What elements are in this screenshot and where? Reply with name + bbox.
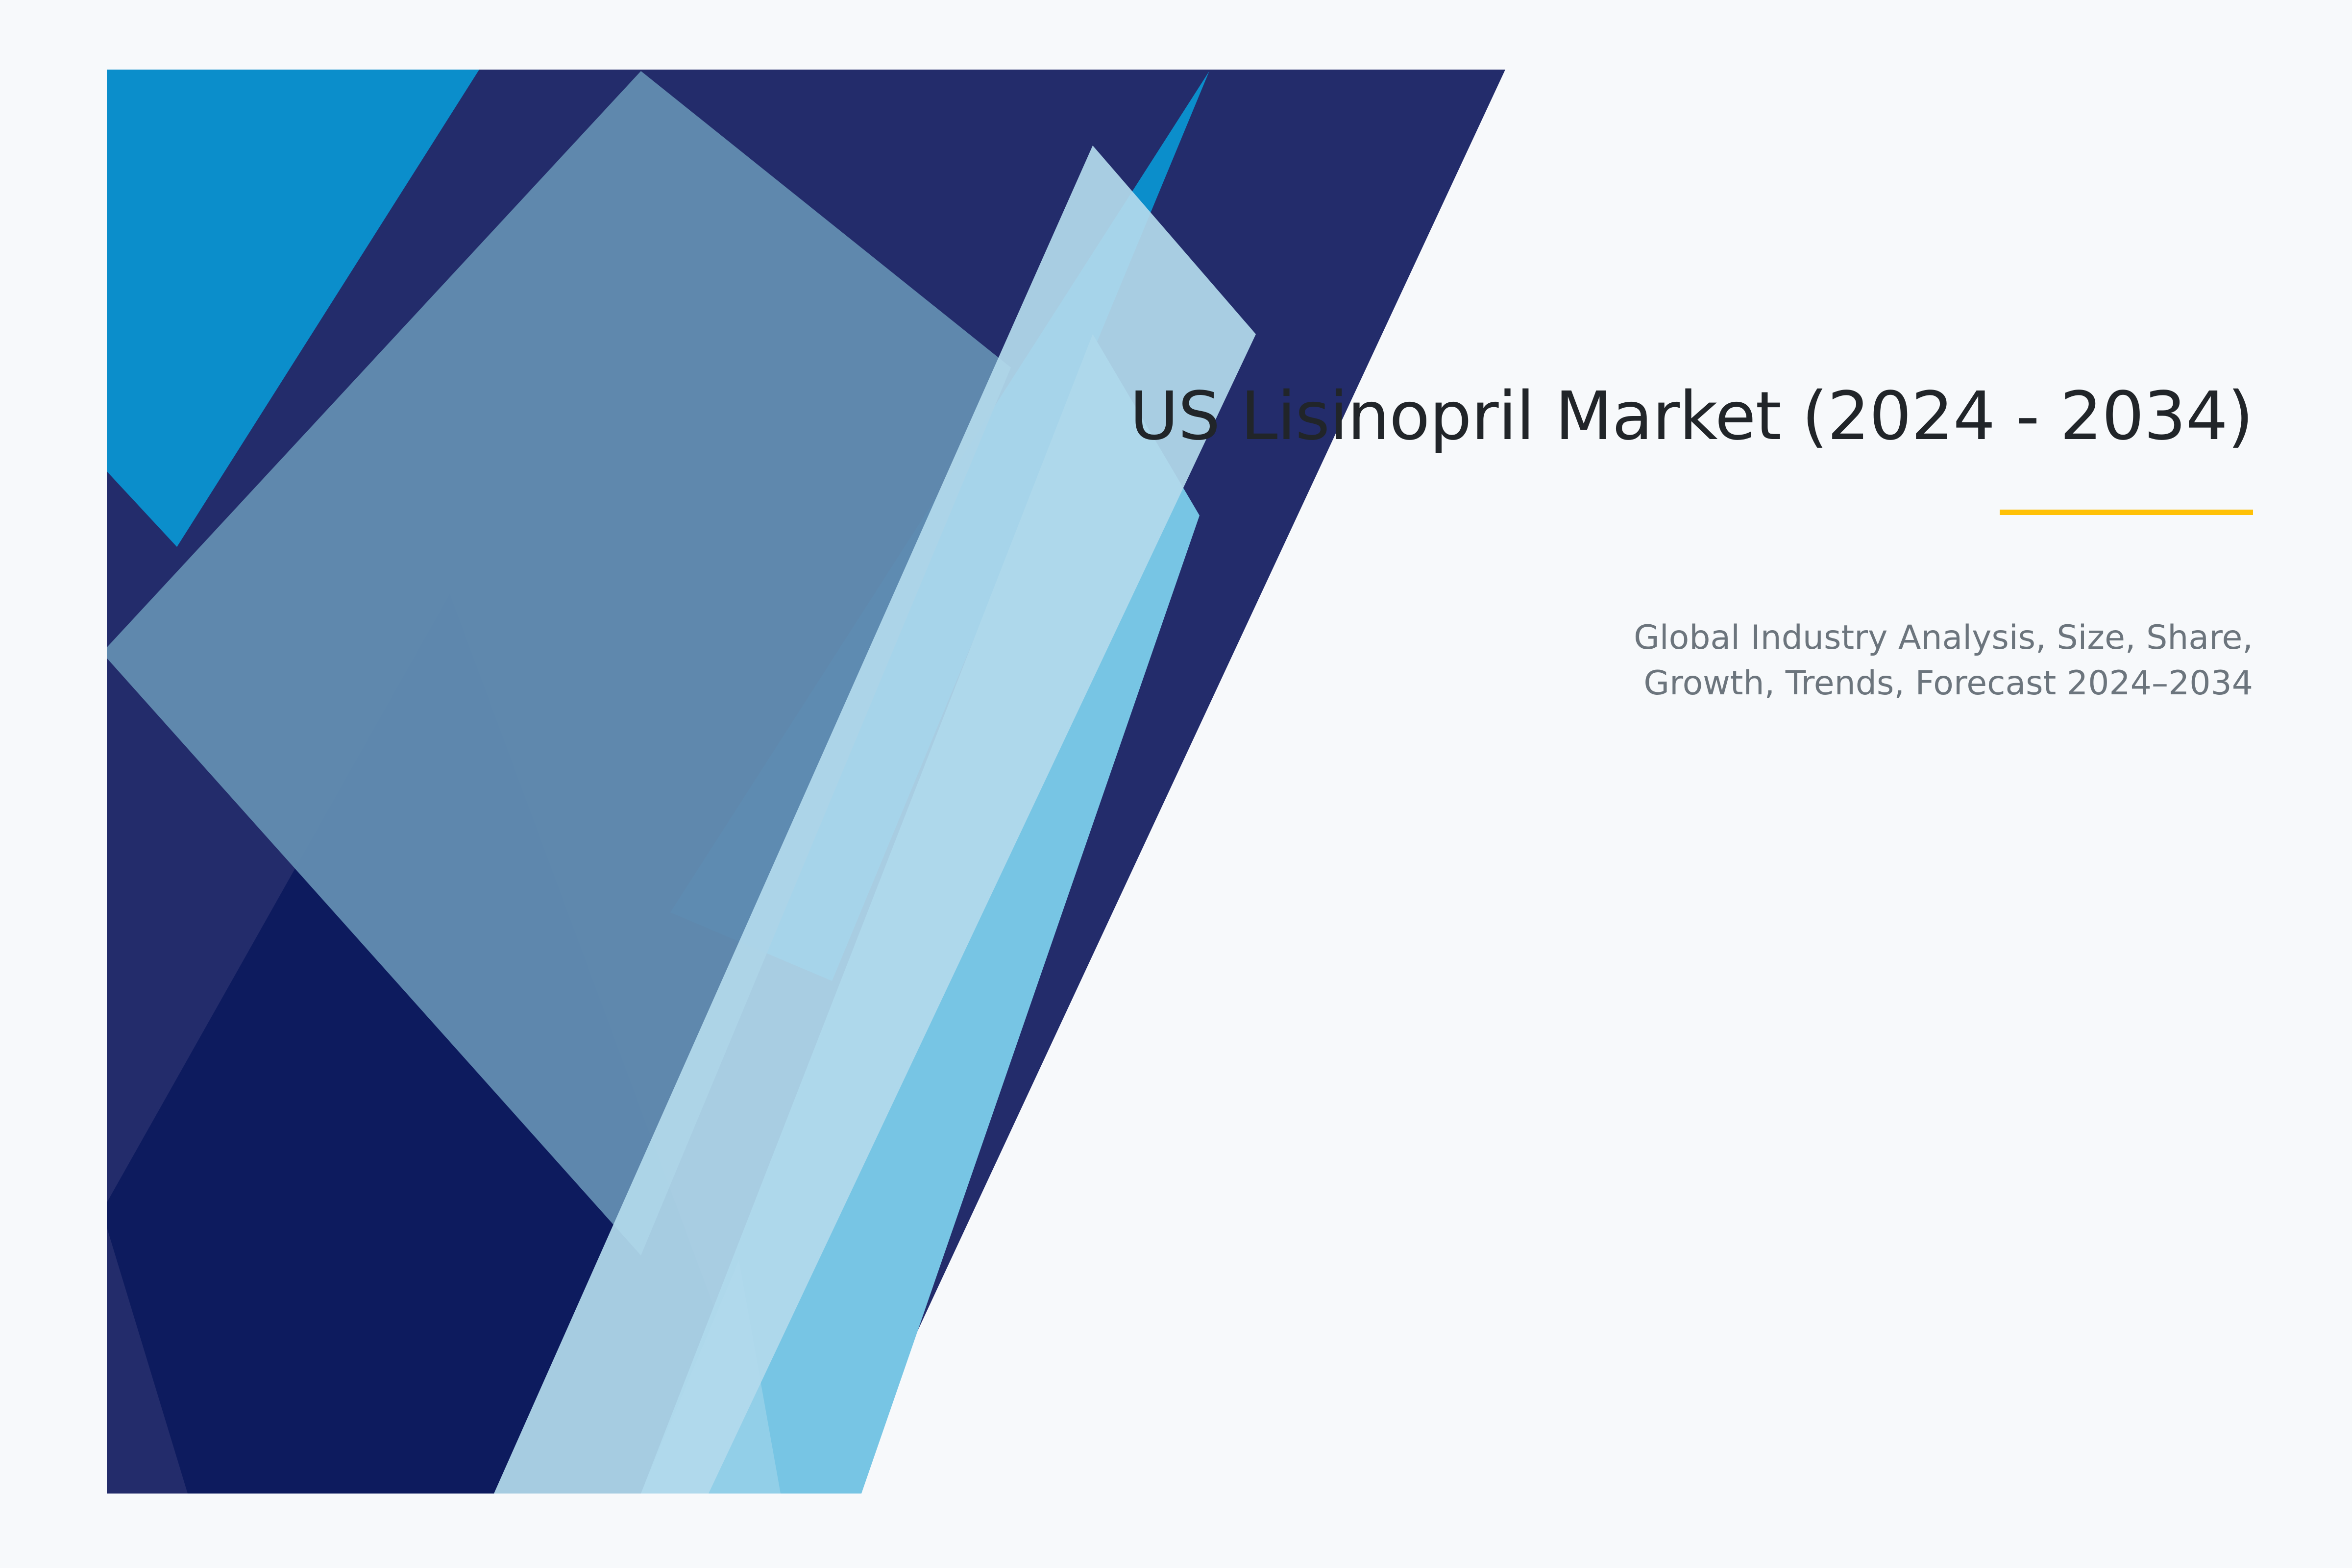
page-subtitle: Global Industry Analysis, Size, Share, G… <box>1631 615 2253 706</box>
accent-rule <box>2000 510 2253 515</box>
abstract-geometric-artwork <box>107 70 1508 1494</box>
accent-rule-wrapper <box>882 510 2253 515</box>
artwork-canvas <box>107 70 1508 1494</box>
cover-slide: US Lisinopril Market (2024 - 2034) Globa… <box>0 0 2352 1568</box>
cover-text-block: US Lisinopril Market (2024 - 2034) Globa… <box>882 377 2253 706</box>
page-title: US Lisinopril Market (2024 - 2034) <box>882 377 2253 456</box>
